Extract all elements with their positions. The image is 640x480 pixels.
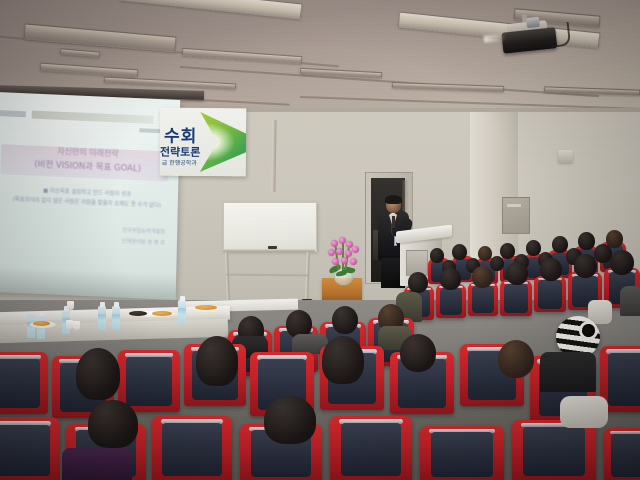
- audience-body: [62, 448, 132, 480]
- whiteboard: [220, 200, 320, 310]
- orchid-flower: [341, 257, 348, 264]
- audience-head: [76, 348, 120, 400]
- audience-head: [552, 236, 568, 253]
- orchid-flower: [328, 249, 335, 256]
- audience-head: [88, 400, 138, 448]
- ceiling-light: [60, 48, 100, 57]
- slide-header-bar-left: [0, 110, 26, 117]
- audience-head: [472, 266, 493, 288]
- audience-head: [332, 306, 358, 334]
- audience-head: [610, 250, 634, 275]
- audience-head: [452, 244, 467, 260]
- whiteboard-surface: [223, 202, 317, 252]
- paper-cup: [73, 321, 80, 330]
- water-bottle: [112, 306, 120, 330]
- ceiling-light: [392, 82, 504, 92]
- audience-head: [478, 246, 492, 261]
- seminar-banner: 수회 전략토론 금 한행공학과: [160, 108, 247, 177]
- snack-food: [195, 305, 217, 310]
- audience-head: [264, 396, 316, 444]
- wall-speaker-icon: [558, 150, 573, 163]
- orchid-flower: [352, 246, 359, 253]
- ceiling-light: [120, 0, 303, 19]
- snack-food: [152, 311, 172, 316]
- whiteboard-crossbar: [226, 274, 308, 277]
- wall-access-panel: [502, 197, 530, 234]
- whiteboard-marker: [268, 246, 277, 249]
- paper-cup: [66, 320, 73, 329]
- ceiling-light: [104, 77, 236, 90]
- audience-body: [620, 286, 640, 316]
- ceiling-light: [182, 48, 302, 64]
- water-bottle: [98, 306, 106, 330]
- banner-chevron-graphic: [200, 112, 247, 172]
- auditorium-photo: 자신만의 미래전략 (비전 VISION과 목표 GOAL) ■ 자신목표 설정…: [0, 0, 640, 480]
- water-bottle: [178, 300, 186, 324]
- audience-head: [440, 268, 461, 290]
- audience-head: [500, 243, 515, 259]
- orchid-flower: [331, 240, 338, 247]
- orchid-plant: [318, 236, 362, 302]
- slide-footer: 한국처업능력개발원 인재관리팀 정 병 호: [75, 224, 165, 250]
- whiteboard-marker-tray: [223, 249, 315, 252]
- orchid-flower: [332, 258, 339, 265]
- audience-head: [526, 240, 541, 256]
- orchid-flower: [336, 248, 343, 255]
- presenter-hair: [385, 195, 402, 204]
- projection-screen: 자신만의 미래전략 (비전 VISION과 목표 GOAL) ■ 자신목표 설정…: [0, 92, 180, 300]
- audience-head: [322, 336, 364, 384]
- audience-head: [408, 272, 428, 293]
- snack-food: [129, 311, 147, 316]
- audience-head: [498, 340, 534, 378]
- orchid-flower: [345, 250, 352, 257]
- orchid-flower: [350, 258, 357, 265]
- orchid-flower: [339, 237, 346, 244]
- audience-head: [490, 256, 504, 271]
- audience-head: [574, 254, 597, 278]
- audience-body: [540, 352, 596, 392]
- audience-body: [560, 396, 608, 428]
- snack-food: [33, 321, 50, 326]
- audience-head: [506, 262, 528, 285]
- ceiling-light: [40, 63, 138, 78]
- paper-cup: [67, 301, 74, 310]
- projector-lens-icon: [526, 17, 540, 28]
- audience-head: [196, 336, 238, 386]
- audience-head: [400, 334, 436, 372]
- whiteboard-leg: [305, 252, 309, 302]
- banner-subtitle: 금 한행공학과: [162, 158, 197, 167]
- ceiling-light: [24, 23, 177, 52]
- audience-head: [430, 248, 444, 263]
- audience-head: [540, 258, 562, 281]
- audience-head: [578, 232, 595, 250]
- whiteboard-leg: [225, 252, 229, 304]
